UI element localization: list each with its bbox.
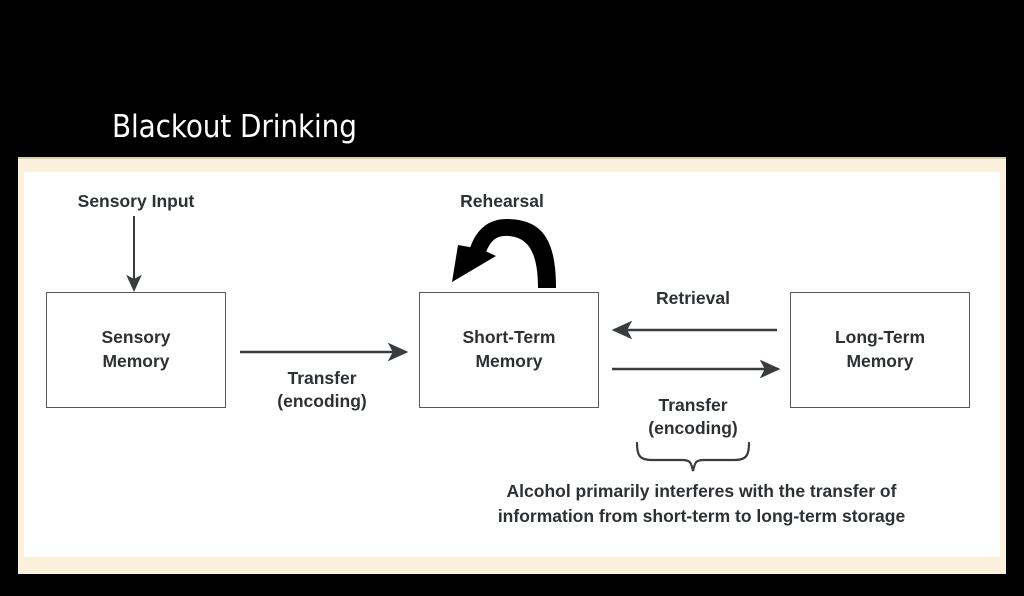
- box-long-term-memory-label: Long-Term Memory: [835, 326, 925, 374]
- label-transfer-short-to-long: Transfer (encoding): [603, 394, 783, 440]
- box-sensory-memory-label: Sensory Memory: [101, 326, 170, 374]
- label-sensory-input: Sensory Input: [44, 190, 228, 213]
- label-retrieval: Retrieval: [603, 287, 783, 310]
- label-transfer-sensory-to-short: Transfer (encoding): [232, 367, 412, 413]
- label-rehearsal: Rehearsal: [410, 190, 594, 213]
- box-short-term-memory-label: Short-Term Memory: [462, 326, 555, 374]
- box-long-term-memory: Long-Term Memory: [790, 292, 970, 408]
- figure-caption: Alcohol primarily interferes with the tr…: [403, 479, 1000, 530]
- box-short-term-memory: Short-Term Memory: [419, 292, 599, 408]
- box-sensory-memory: Sensory Memory: [46, 292, 226, 408]
- slide-title-line-1: Blackout Drinking: [112, 105, 972, 149]
